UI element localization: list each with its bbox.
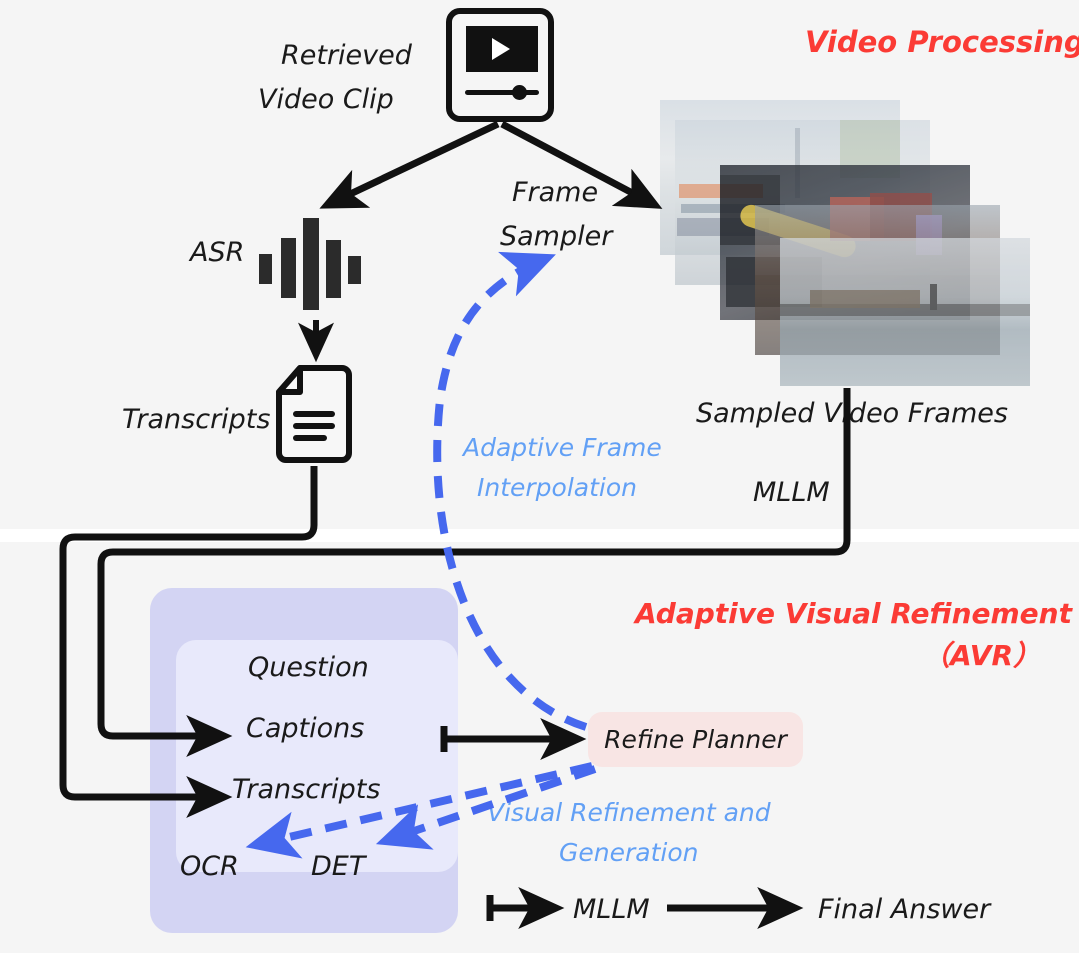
section-title-avr-line2: （AVR） [922, 640, 1041, 672]
video-player-icon [446, 8, 554, 122]
audio-waveform-icon [259, 218, 361, 310]
mllm-top-label: MLLM [753, 477, 830, 509]
final-answer-label: Final Answer [818, 894, 990, 926]
mllm-bottom-label: MLLM [573, 894, 650, 926]
document-icon [274, 365, 354, 463]
det-label: DET [311, 851, 365, 883]
transcripts-doc-label: Transcripts [122, 404, 270, 436]
section-title-avr-line1: Adaptive Visual Refinement [635, 598, 1072, 630]
visual-refinement-generation-label-line1: Visual Refinement and [487, 798, 771, 828]
play-triangle-icon [492, 38, 510, 60]
question-label: Question [248, 652, 369, 684]
refine-planner-node[interactable]: Refine Planner [588, 712, 803, 767]
refine-planner-label: Refine Planner [604, 725, 787, 754]
diagram-canvas: Video Processing Adaptive Visual Refinem… [0, 0, 1079, 953]
sampled-video-frames-label: Sampled Video Frames [696, 398, 1008, 430]
section-title-video-processing: Video Processing [805, 26, 1079, 59]
frame-sampler-label-line1: Frame [512, 177, 598, 209]
ocr-label: OCR [180, 851, 239, 883]
frame-sampler-label-line2: Sampler [500, 221, 612, 253]
adaptive-frame-interpolation-label-line2: Interpolation [477, 473, 637, 503]
retrieved-video-clip-label-line2: Video Clip [258, 84, 394, 116]
transcripts-item-label: Transcripts [232, 774, 380, 806]
video-frame-5 [780, 238, 1030, 386]
retrieved-video-clip-label-line1: Retrieved [281, 40, 412, 72]
seek-knob-icon [512, 85, 527, 100]
visual-refinement-generation-label-line2: Generation [559, 838, 698, 868]
captions-label: Captions [246, 713, 364, 745]
adaptive-frame-interpolation-label-line1: Adaptive Frame [463, 433, 662, 463]
seek-track-icon [465, 90, 539, 95]
asr-label: ASR [190, 237, 244, 269]
